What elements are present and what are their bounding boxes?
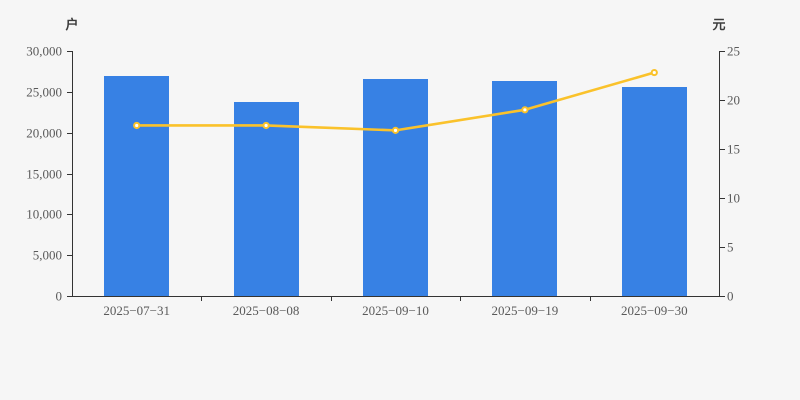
bar [104,76,169,297]
x-tick-mark [201,296,202,301]
right-y-tick-mark [720,51,725,52]
right-y-tick-label: 0 [727,290,734,303]
x-tick-mark [331,296,332,301]
left-y-tick-mark [67,255,72,256]
bar [622,87,687,296]
right-y-tick-mark [720,149,725,150]
right-y-tick-mark [720,198,725,199]
line-data-point-marker [652,70,657,75]
left-y-tick-label: 15,000 [26,167,62,180]
bar [234,102,299,296]
right-y-tick-label: 10 [727,192,740,205]
right-y-axis-line [719,51,720,296]
left-y-tick-mark [67,133,72,134]
left-y-tick-mark [67,174,72,175]
x-axis-category-label: 2025−09−10 [362,303,429,319]
right-y-tick-mark [720,296,725,297]
x-axis-category-label: 2025−09−30 [621,303,688,319]
left-y-tick-label: 20,000 [26,126,62,139]
x-tick-mark [590,296,591,301]
left-y-tick-label: 5,000 [33,249,62,262]
left-y-axis-line [72,51,73,296]
x-axis-category-label: 2025−09−19 [492,303,559,319]
left-y-tick-mark [67,296,72,297]
x-axis-category-label: 2025−07−31 [103,303,170,319]
bar [492,81,557,296]
right-y-tick-mark [720,247,725,248]
right-axis-unit-label: 元 [712,14,725,33]
left-axis-unit-label: 户 [65,14,78,33]
right-y-tick-mark [720,100,725,101]
bar [363,79,428,296]
left-y-tick-label: 0 [56,290,63,303]
left-y-tick-label: 10,000 [26,208,62,221]
x-tick-mark [460,296,461,301]
left-y-tick-mark [67,51,72,52]
right-y-tick-label: 25 [727,45,740,58]
left-y-tick-mark [67,92,72,93]
left-y-tick-mark [67,214,72,215]
left-y-tick-label: 30,000 [26,45,62,58]
right-y-tick-label: 15 [727,143,740,156]
right-y-tick-label: 20 [727,94,740,107]
right-y-tick-label: 5 [727,241,734,254]
x-axis-line [72,296,720,297]
x-axis-category-label: 2025−08−08 [233,303,300,319]
left-y-tick-label: 25,000 [26,85,62,98]
chart-container: 户 元 05,00010,00015,00020,00025,00030,000… [0,0,800,400]
